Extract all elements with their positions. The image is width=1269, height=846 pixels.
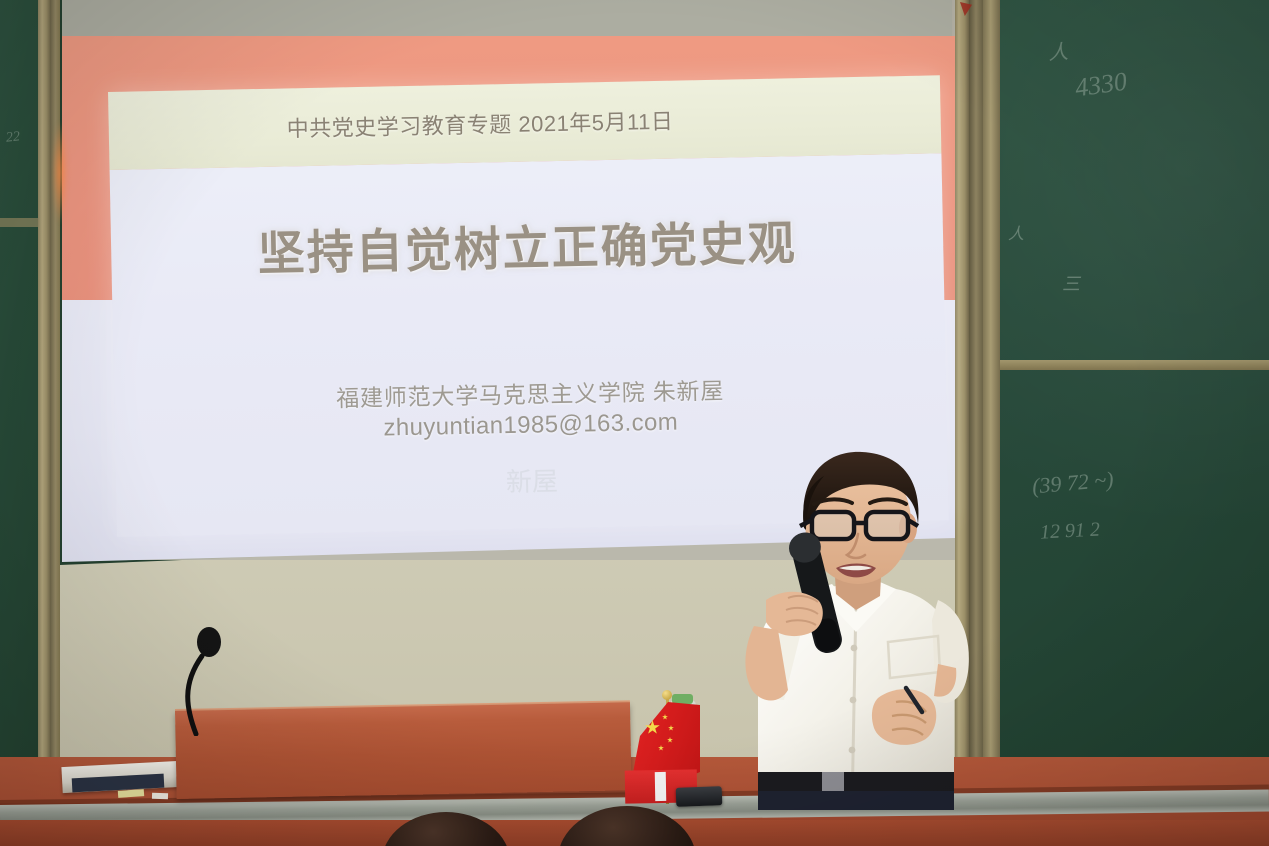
chalkboard-left-seam [0, 218, 40, 227]
lectern[interactable] [175, 702, 632, 799]
projector-beam-hotspot [52, 120, 68, 225]
chalkboard-left-panel [0, 0, 40, 805]
flag-finial [662, 690, 672, 700]
chalk-piece-white[interactable] [152, 793, 168, 800]
slide-title: 坚持自觉树立正确党史观 [111, 201, 944, 287]
chalkboard-right-panel [1000, 0, 1269, 812]
water-bottle-cap [672, 694, 693, 704]
classroom-scene: 4330人(39 72 ~)12 91 2三人22 中共党史学习教育专题 202… [0, 0, 1269, 846]
slide-header-text: 中共党史学习教育专题 2021年5月11日 [286, 104, 673, 144]
red-box-stripe [655, 772, 667, 801]
presenter [700, 450, 1030, 810]
board-frame-rail-left-outer [38, 0, 50, 808]
chalkboard-right-seam [1000, 360, 1269, 370]
gooseneck-microphone[interactable] [168, 626, 240, 736]
